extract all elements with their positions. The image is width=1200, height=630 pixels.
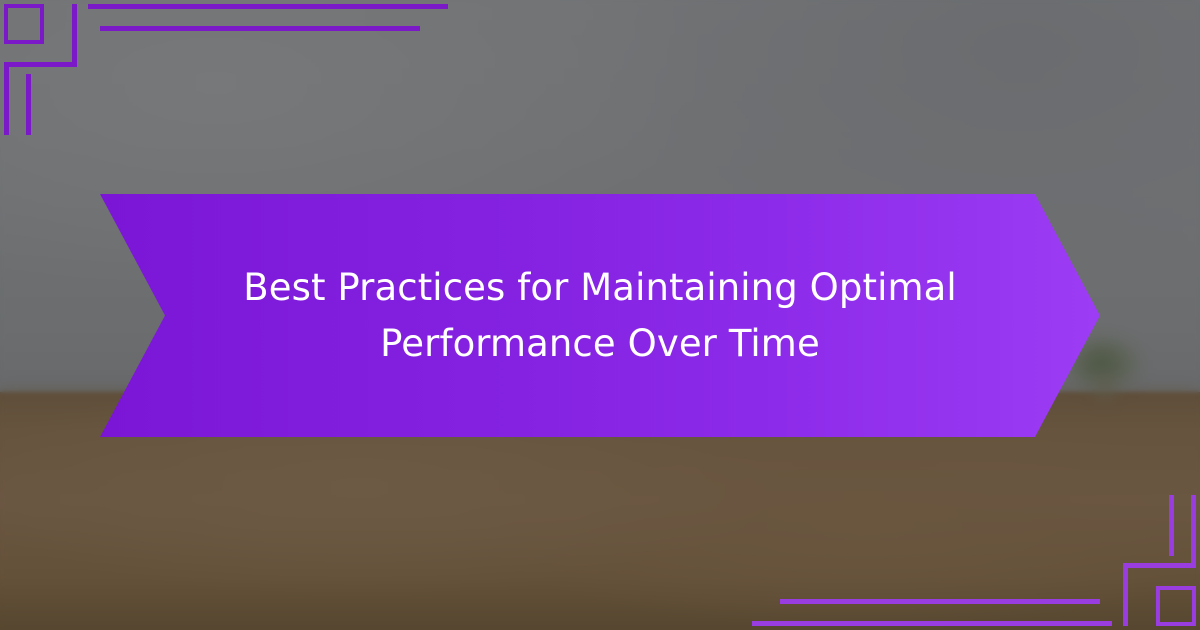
title-banner: Best Practices for Maintaining Optimal P…: [100, 194, 1100, 437]
share-card-canvas: Best Practices for Maintaining Optimal P…: [0, 0, 1200, 630]
page-title: Best Practices for Maintaining Optimal P…: [200, 260, 1000, 372]
